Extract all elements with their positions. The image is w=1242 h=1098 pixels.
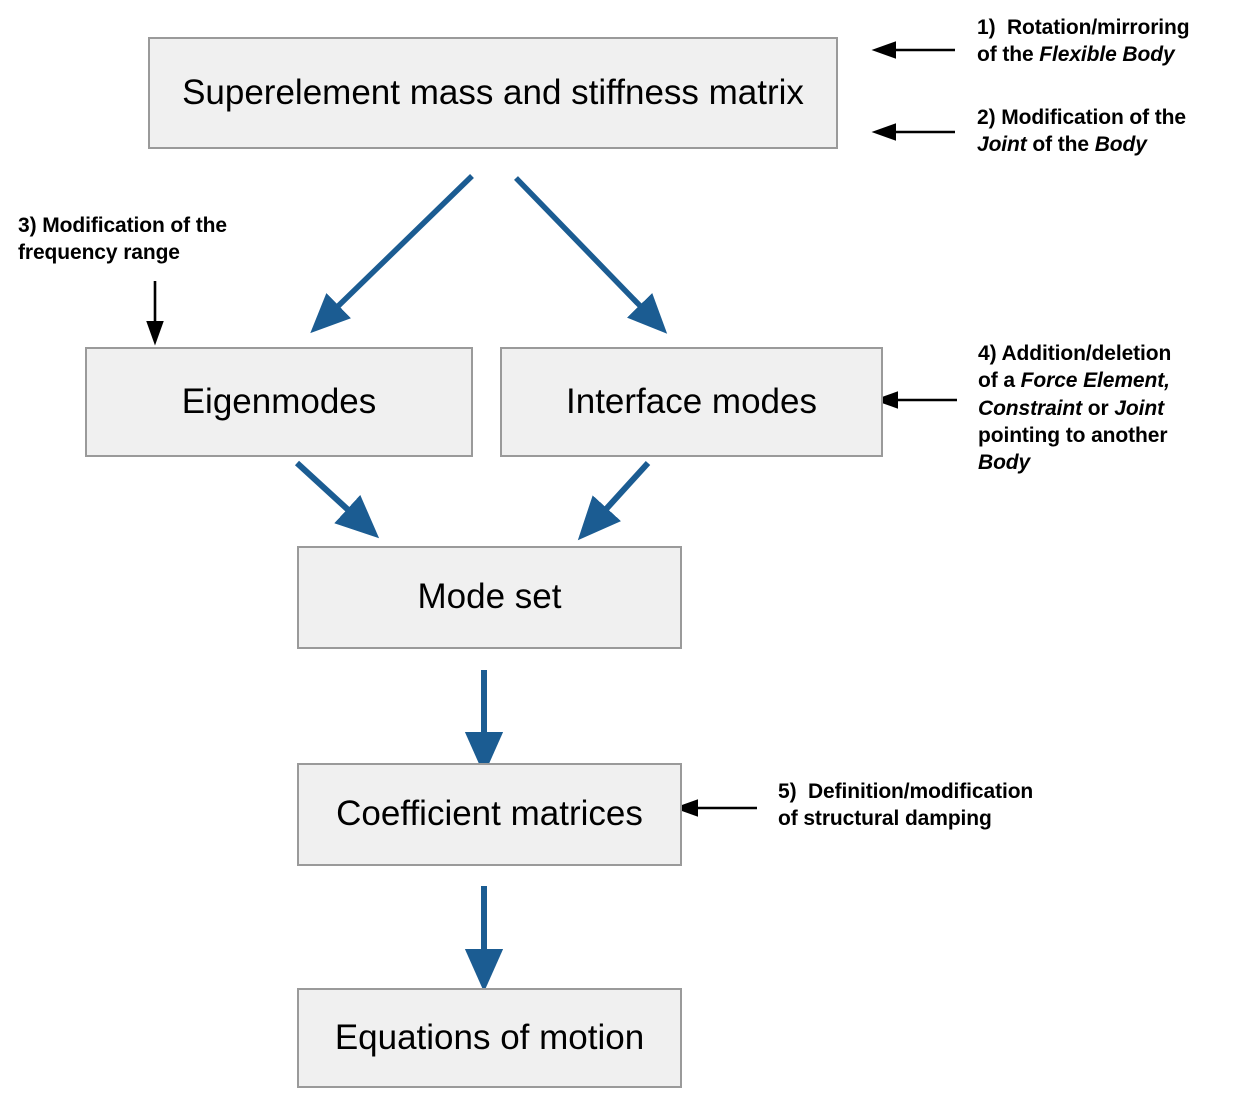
note-4-line2-prefix: of a xyxy=(978,369,1021,392)
note-4-line1: Addition/deletion xyxy=(1001,342,1171,365)
note-4-line3-italic-a: Constraint xyxy=(978,397,1082,420)
box-mode-set-label: Mode set xyxy=(418,578,562,617)
note-5-line2: of structural damping xyxy=(778,807,992,830)
box-coefficient-matrices-label: Coefficient matrices xyxy=(336,795,643,834)
box-coefficient-matrices[interactable]: Coefficient matrices xyxy=(297,763,682,866)
note-1-line2-italic: Flexible Body xyxy=(1039,43,1174,66)
note-2-line2-italic-a: Joint xyxy=(977,133,1027,156)
note-2-line2-mid: of the xyxy=(1027,133,1095,156)
note-2-line2-italic-b: Body xyxy=(1095,133,1147,156)
note-4-number: 4) xyxy=(978,342,996,365)
note-3-number: 3) xyxy=(18,214,36,237)
box-interface-modes-label: Interface modes xyxy=(566,383,817,422)
note-4-line3-mid: or xyxy=(1082,397,1114,420)
note-5-number: 5) xyxy=(778,780,796,803)
box-equations-of-motion-label: Equations of motion xyxy=(335,1019,644,1058)
arrow-superelement-to-interface-modes xyxy=(516,178,648,314)
diagram-canvas: Superelement mass and stiffness matrix E… xyxy=(0,0,1242,1098)
box-equations-of-motion[interactable]: Equations of motion xyxy=(297,988,682,1088)
note-1-line1: Rotation/mirroring xyxy=(1007,16,1190,39)
note-5-line1: Definition/modification xyxy=(808,780,1033,803)
note-2-number: 2) xyxy=(977,106,995,129)
note-4-line4: pointing to another xyxy=(978,424,1167,447)
note-4-line5-italic: Body xyxy=(978,451,1030,474)
box-eigenmodes[interactable]: Eigenmodes xyxy=(85,347,473,457)
note-4: 4) Addition/deletion of a Force Element,… xyxy=(978,340,1234,476)
note-4-line2-italic: Force Element, xyxy=(1021,369,1170,392)
note-5: 5) Definition/modification of structural… xyxy=(778,778,1108,833)
note-1-line2-prefix: of the xyxy=(977,43,1039,66)
box-superelement-label: Superelement mass and stiffness matrix xyxy=(182,74,804,113)
note-2: 2) Modification of the Joint of the Body xyxy=(977,104,1239,159)
note-3: 3) Modification of the frequency range xyxy=(18,212,298,267)
arrow-interface-modes-to-mode-set xyxy=(598,463,648,518)
note-3-line2: frequency range xyxy=(18,241,180,264)
box-eigenmodes-label: Eigenmodes xyxy=(182,383,377,422)
note-4-line3-italic-b: Joint xyxy=(1114,397,1164,420)
box-superelement[interactable]: Superelement mass and stiffness matrix xyxy=(148,37,838,149)
box-mode-set[interactable]: Mode set xyxy=(297,546,682,649)
note-1: 1) Rotation/mirroring of the Flexible Bo… xyxy=(977,14,1239,69)
note-1-number: 1) xyxy=(977,16,995,39)
arrow-superelement-to-eigenmodes xyxy=(330,176,472,314)
arrow-eigenmodes-to-mode-set xyxy=(297,463,357,518)
note-3-line1: Modification of the xyxy=(42,214,227,237)
box-interface-modes[interactable]: Interface modes xyxy=(500,347,883,457)
note-2-line1: Modification of the xyxy=(1001,106,1186,129)
